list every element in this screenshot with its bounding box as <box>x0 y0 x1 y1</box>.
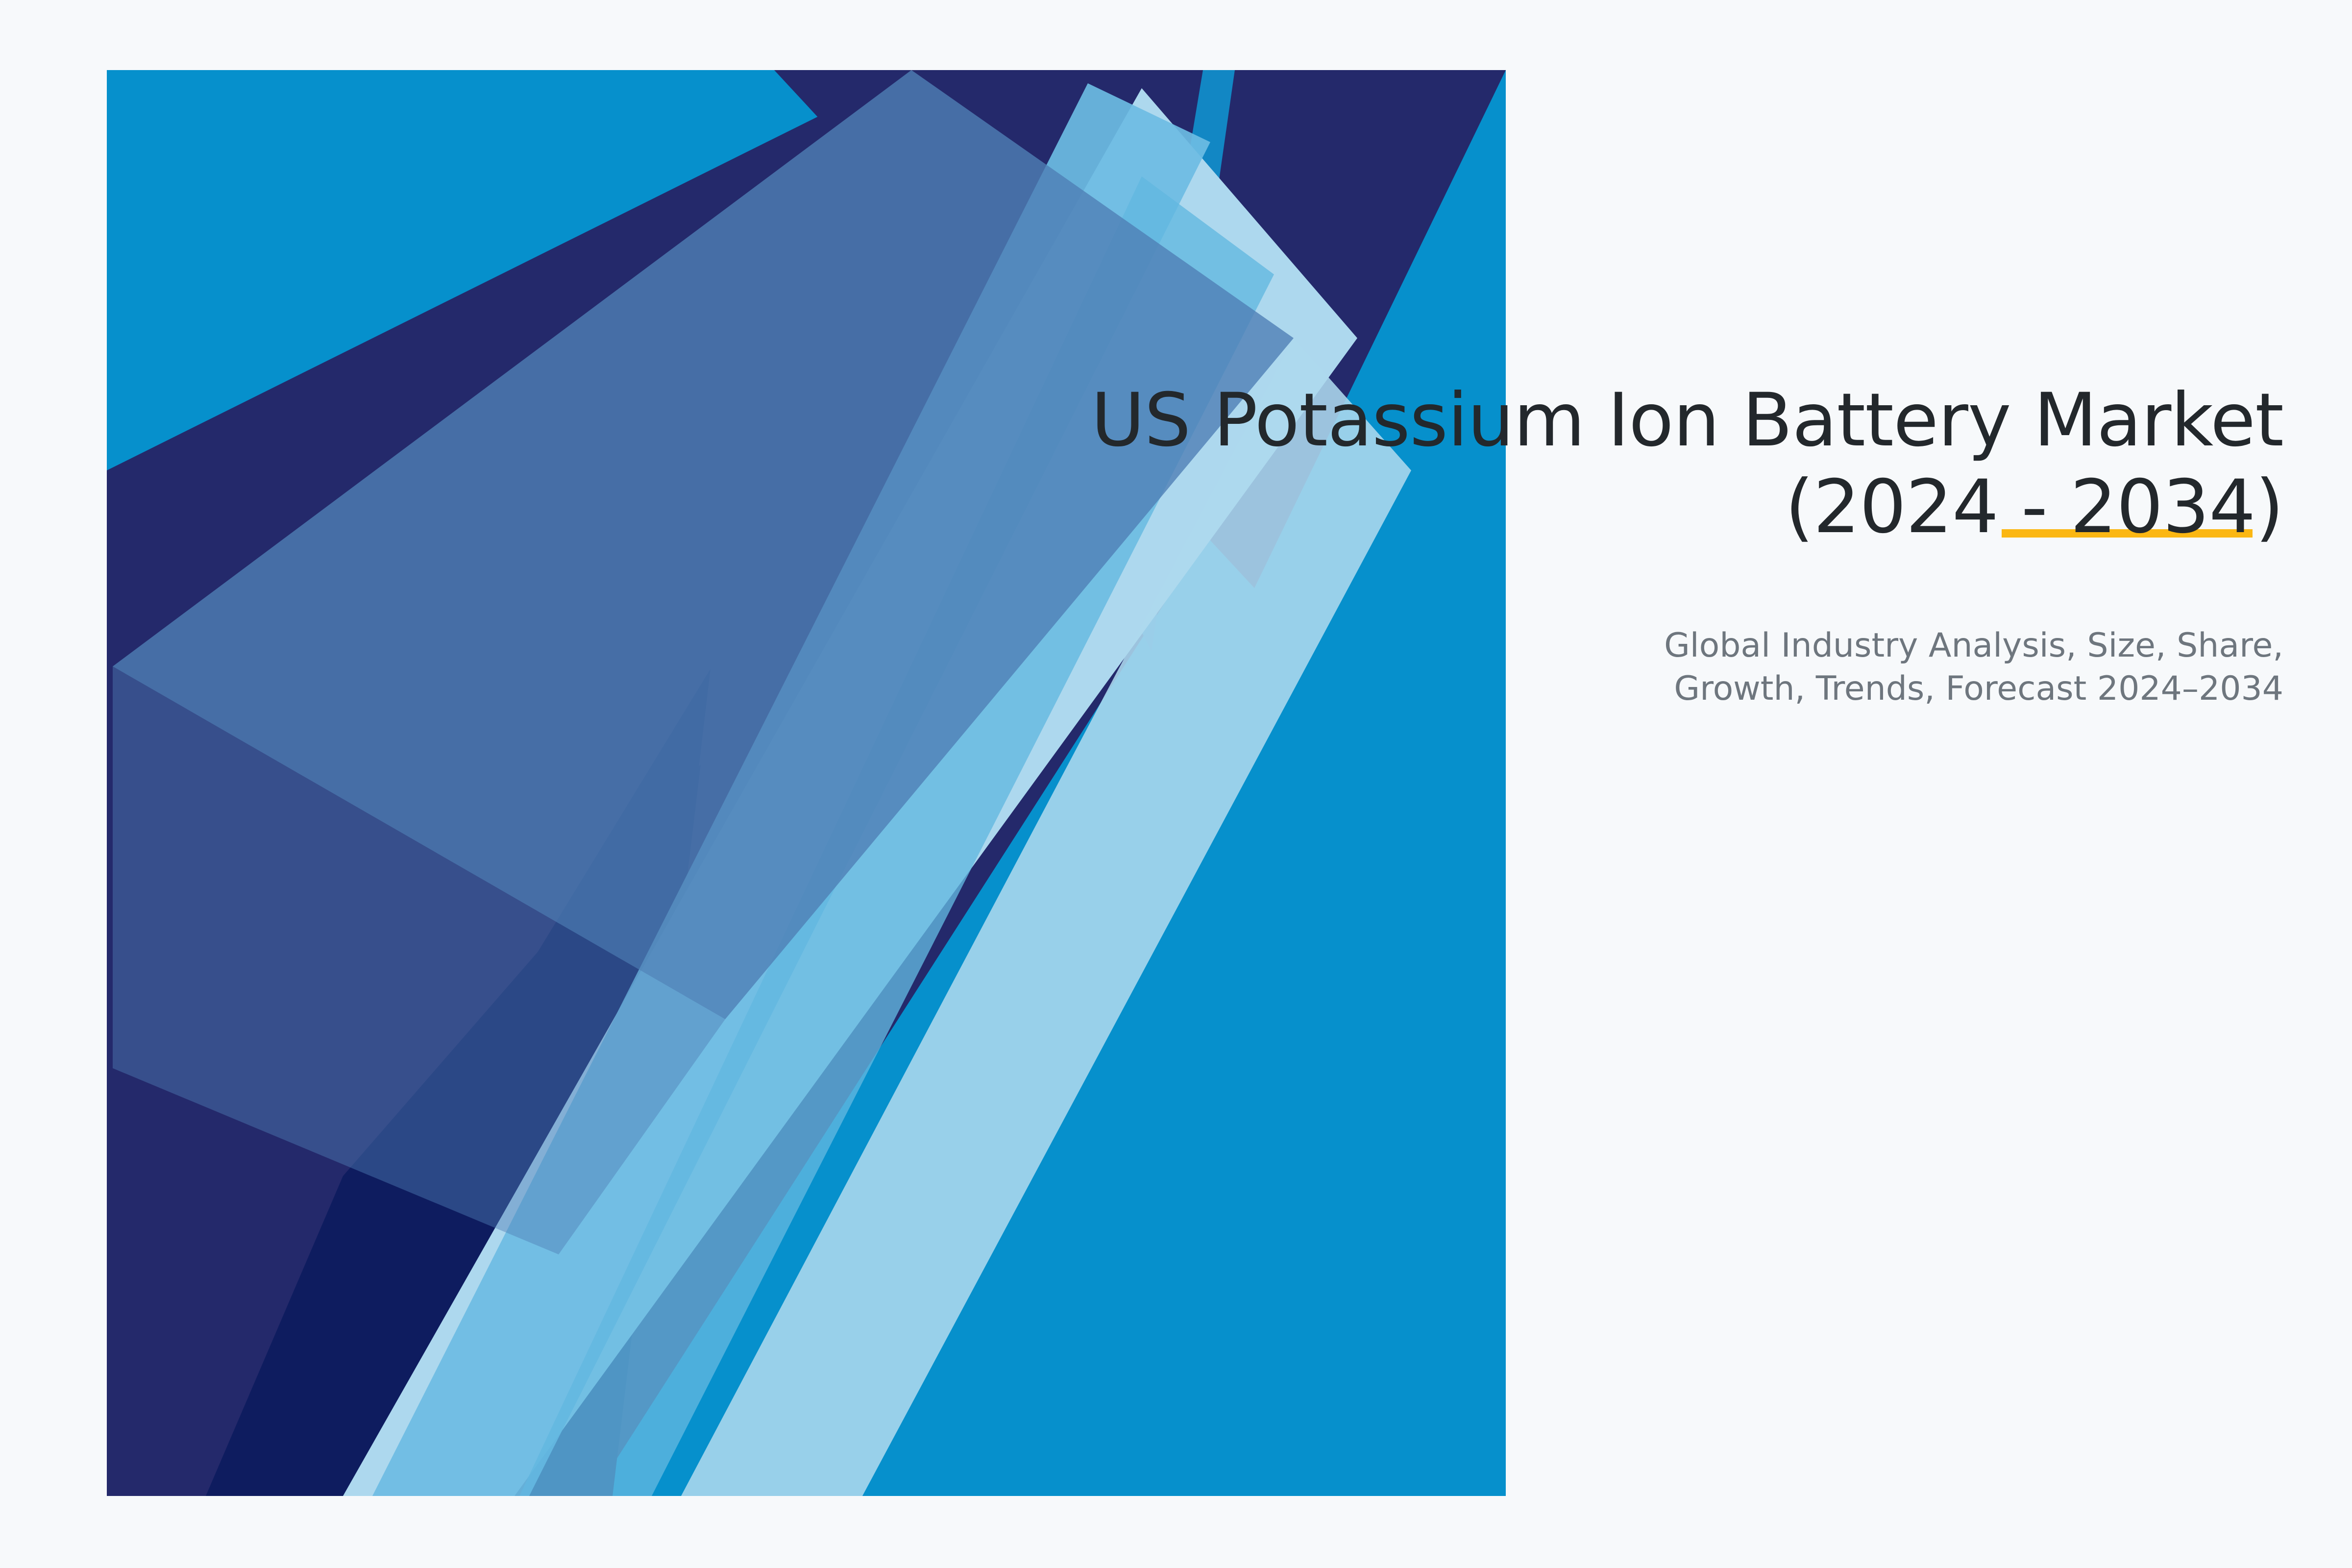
abstract-polygon-banner <box>0 0 2352 1568</box>
cover-text-block: US Potassium Ion Battery Market (2024 - … <box>980 377 2283 711</box>
page-subtitle-line-1: Global Industry Analysis, Size, Share, <box>1664 626 2283 665</box>
page-subtitle: Global Industry Analysis, Size, Share, G… <box>980 624 2283 711</box>
page-title-line-1: US Potassium Ion Battery Market <box>1091 378 2283 463</box>
report-cover: US Potassium Ion Battery Market (2024 - … <box>0 0 2352 1568</box>
page-subtitle-line-2: Growth, Trends, Forecast 2024–2034 <box>1674 669 2283 708</box>
page-title: US Potassium Ion Battery Market (2024 - … <box>980 377 2283 551</box>
page-title-line-2: (2024 - 2034) <box>1785 465 2283 550</box>
